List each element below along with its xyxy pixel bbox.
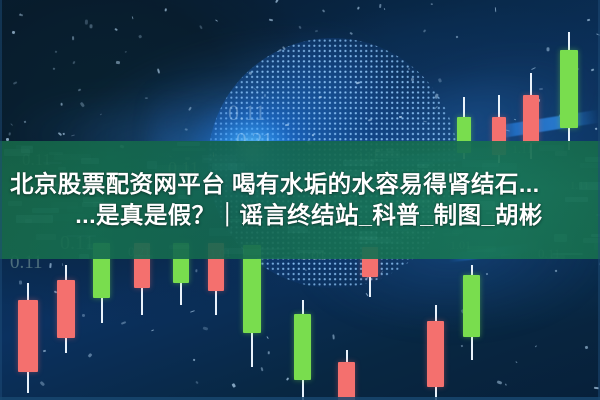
candlestick-up: [560, 32, 578, 150]
candlestick-body: [338, 362, 355, 400]
candlestick-up: [243, 245, 261, 367]
candlestick-body: [427, 321, 444, 387]
left-edge: [0, 0, 2, 400]
candlestick-down: [57, 265, 75, 353]
headline: 北京股票配资网平台 喝有水垢的水容易得肾结石... ...是真是假？｜谣言终结站…: [0, 141, 600, 259]
candlestick-body: [523, 95, 539, 143]
headline-line-2: ...是真是假？｜谣言终结站_科普_制图_胡彬: [57, 202, 543, 230]
headline-line-1: 北京股票配资网平台 喝有水垢的水容易得肾结石...: [6, 171, 540, 199]
candlestick-body: [18, 300, 38, 372]
banner-image: 0.110.110.111.010.110.110.213.111.111.01…: [0, 0, 600, 400]
candlestick-down: [338, 350, 355, 400]
candlestick-up: [463, 265, 480, 360]
candlestick-down: [427, 305, 444, 400]
candlestick-body: [560, 50, 578, 128]
candlestick-body: [57, 280, 75, 338]
candlestick-up: [294, 300, 311, 400]
candlestick-down: [18, 283, 38, 393]
candlestick-body: [294, 314, 311, 380]
candlestick-body: [463, 275, 480, 337]
